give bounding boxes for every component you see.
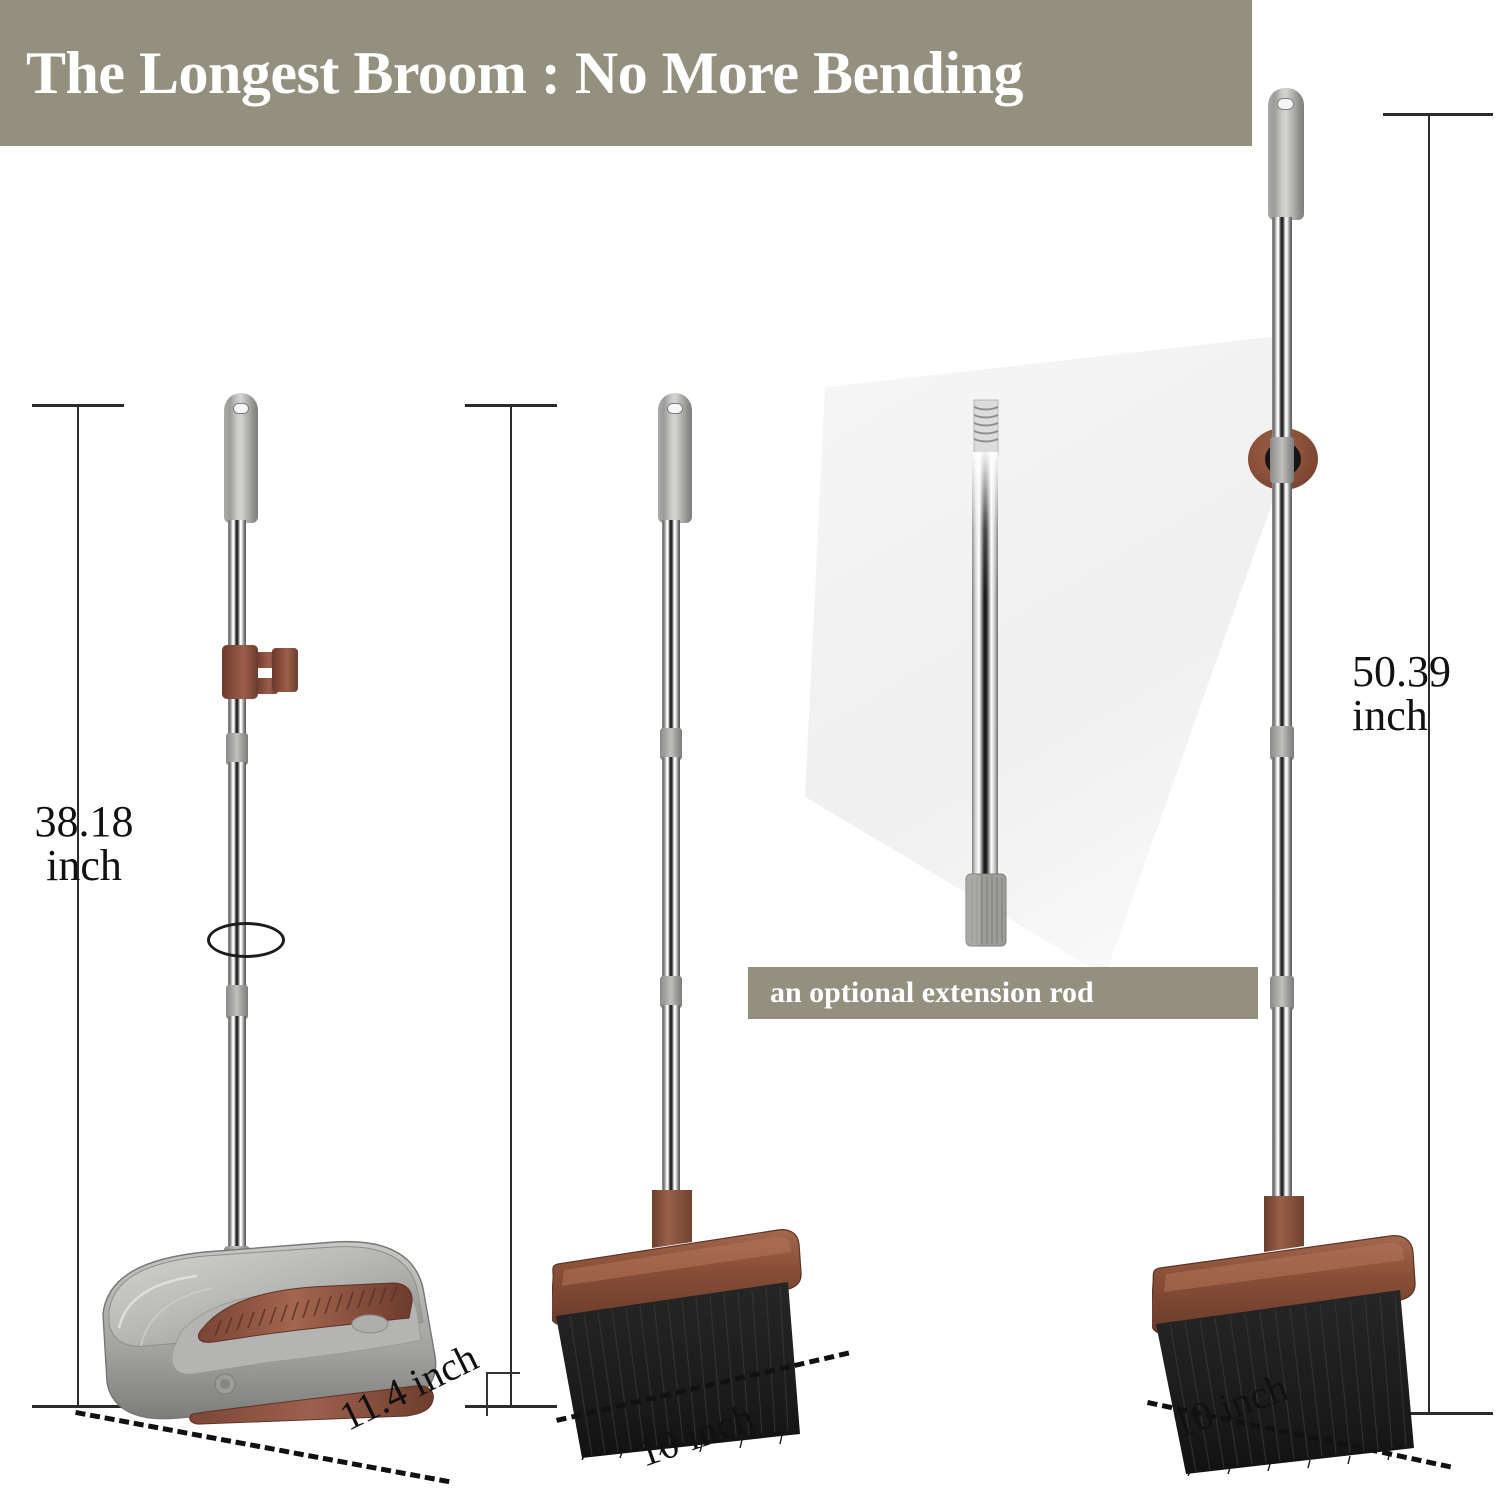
broom-mid-grip-hang-hole [667, 403, 683, 414]
broom-mid-pole-upper [662, 520, 680, 732]
dustpan-grip-hang-hole [233, 403, 249, 414]
dustpan-width-tick [486, 1372, 488, 1416]
dimension-label-dustpan-height: 38.18 inch [4, 800, 164, 888]
extension-rod-ribbed-cap [963, 872, 1009, 948]
dim-unit-right: inch [1352, 694, 1500, 738]
dim-unit: inch [4, 844, 164, 888]
dimension-label-broom-height: 50.39 inch [1352, 650, 1500, 738]
broom-right-pole-lower [1272, 1007, 1292, 1215]
dim-vertical-line [77, 404, 79, 1406]
broom-right-grip-hang-hole [1277, 98, 1294, 110]
broom-right-pole-top [1272, 217, 1292, 433]
dim-vertical-line-mid [510, 404, 512, 1406]
title-banner: The Longest Broom : No More Bending [0, 0, 1252, 146]
extension-rod-shaft [972, 452, 998, 882]
extension-rod-threaded-tip [968, 398, 1004, 458]
broom-right-ring-collar [1270, 437, 1294, 483]
dustpan-pole-upper [228, 520, 246, 740]
broom-mid-joint-upper [660, 728, 682, 760]
rotation-indicator-ellipse [207, 922, 285, 958]
dim-value: 38.18 [4, 800, 164, 844]
broom-right-pole-upper [1272, 496, 1292, 728]
page-title: The Longest Broom : No More Bending [26, 39, 1023, 108]
extension-rod-callout-cone [795, 336, 1295, 976]
broom-clip-bracket [222, 645, 258, 699]
broom-mid-pole-middle [662, 757, 680, 979]
dustpan-pole-joint-lower [226, 985, 248, 1019]
dim-value-right: 50.39 [1352, 650, 1500, 694]
dim-top-cap-right [1383, 113, 1493, 116]
extension-rod-banner: an optional extension rod [748, 967, 1258, 1019]
dim-bottom-cap-mid [465, 1405, 557, 1408]
broom-mid-pole-lower [662, 1005, 680, 1205]
dustpan-pole-lower [228, 1016, 246, 1252]
broom-right-joint-upper [1270, 726, 1294, 760]
extension-rod-label: an optional extension rod [770, 976, 1094, 1010]
dustpan-pole-joint-upper [226, 733, 248, 765]
dustpan-width-tick-cap [486, 1372, 520, 1374]
broom-right-joint-lower [1270, 976, 1294, 1010]
broom-mid-joint-lower [660, 976, 682, 1008]
broom-right-pole-middle [1272, 757, 1292, 979]
broom-clip-jaw [272, 648, 298, 692]
product-infographic: The Longest Broom : No More Bending 38.1… [0, 0, 1500, 1493]
